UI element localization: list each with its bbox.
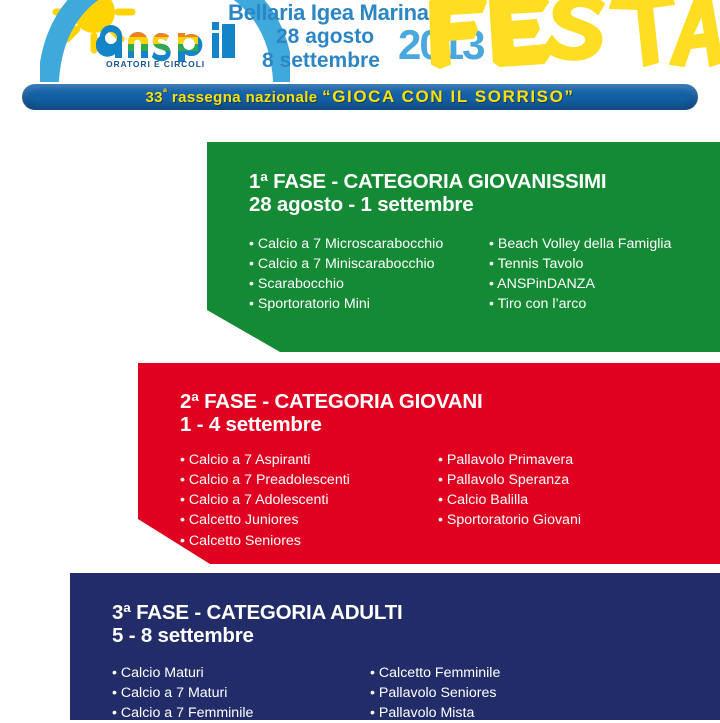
phase-title-3: 3ª FASE - CATEGORIA ADULTI [112,601,403,624]
list-item: Calcetto Juniores [180,510,350,530]
list-item: Pallavolo Speranza [438,470,581,490]
phase-2-events-left: Calcio a 7 Aspiranti Calcio a 7 Preadole… [180,450,350,551]
phase-band-blue: 3ª FASE - CATEGORIA ADULTI 5 - 8 settemb… [70,573,720,720]
list-item: Calcio a 7 Femminile [112,703,253,723]
phase-band-green: 1ª FASE - CATEGORIA GIOVANISSIMI 28 agos… [207,142,720,352]
phase-dates-1: 28 agosto - 1 settembre [249,193,473,216]
phase-title-2: 2ª FASE - CATEGORIA GIOVANI [180,390,483,413]
phase-title-1: 1ª FASE - CATEGORIA GIOVANISSIMI [249,170,606,193]
list-item: Tiro con l’arco [489,294,671,314]
list-item: Sportoratorio Mini [249,294,443,314]
list-item: Sportoratorio Giovani [438,510,581,530]
phase-3-events-right: Calcetto Femminile Pallavolo Seniores Pa… [370,663,500,723]
edition-ribbon: 33ª rassegna nazionale “GIOCA CON IL SOR… [22,84,698,110]
list-item: Calcetto Femminile [370,663,500,683]
list-item: Calcio a 7 Preadolescenti [180,470,350,490]
list-item: Calcio Balilla [438,490,581,510]
anspi-wordmark-icon [96,22,236,62]
anspi-logo: ORATORI E CIRCOLI [96,22,236,78]
phase-dates-3: 5 - 8 settembre [112,624,254,647]
phase-band-red: 2ª FASE - CATEGORIA GIOVANI 1 - 4 settem… [138,363,720,564]
list-item: Beach Volley della Famiglia [489,234,671,254]
edition-number: 33 [145,89,163,106]
list-item: Pallavolo Seniores [370,683,500,703]
list-item: Calcio a 7 Aspiranti [180,450,350,470]
list-item: Calcetto Seniores [180,531,350,551]
anspi-logo-subtitle: ORATORI E CIRCOLI [106,60,205,69]
list-item: Pallavolo Mista [370,703,500,723]
end-date: 8 settembre [262,50,380,71]
edition-ordinal: ª [163,87,167,99]
list-item: Calcio a 7 Adolescenti [180,490,350,510]
edition-ribbon-text: 33ª rassegna nazionale “GIOCA CON IL SOR… [145,87,574,107]
phase-dates-2: 1 - 4 settembre [180,413,322,436]
phase-1-events-left: Calcio a 7 Microscarabocchio Calcio a 7 … [249,234,443,315]
festa-wordmark-icon [424,0,720,70]
start-date: 28 agosto [276,26,374,47]
list-item: ANSPinDANZA [489,274,671,294]
list-item: Calcio a 7 Maturi [112,683,253,703]
list-item: Pallavolo Primavera [438,450,581,470]
list-item: Scarabocchio [249,274,443,294]
phase-3-events-left: Calcio Maturi Calcio a 7 Maturi Calcio a… [112,663,253,723]
list-item: Calcio a 7 Miniscarabocchio [249,254,443,274]
edition-motto: “GIOCA CON IL SORRISO” [322,87,574,106]
phase-2-events-right: Pallavolo Primavera Pallavolo Speranza C… [438,450,581,531]
phase-1-events-right: Beach Volley della Famiglia Tennis Tavol… [489,234,671,315]
list-item: Calcio a 7 Microscarabocchio [249,234,443,254]
list-item: Calcio Maturi [112,663,253,683]
list-item: Tennis Tavolo [489,254,671,274]
poster-header: ORATORI E CIRCOLI Bellaria Igea Marina 2… [0,0,720,82]
edition-subtitle: rassegna nazionale [172,89,318,106]
